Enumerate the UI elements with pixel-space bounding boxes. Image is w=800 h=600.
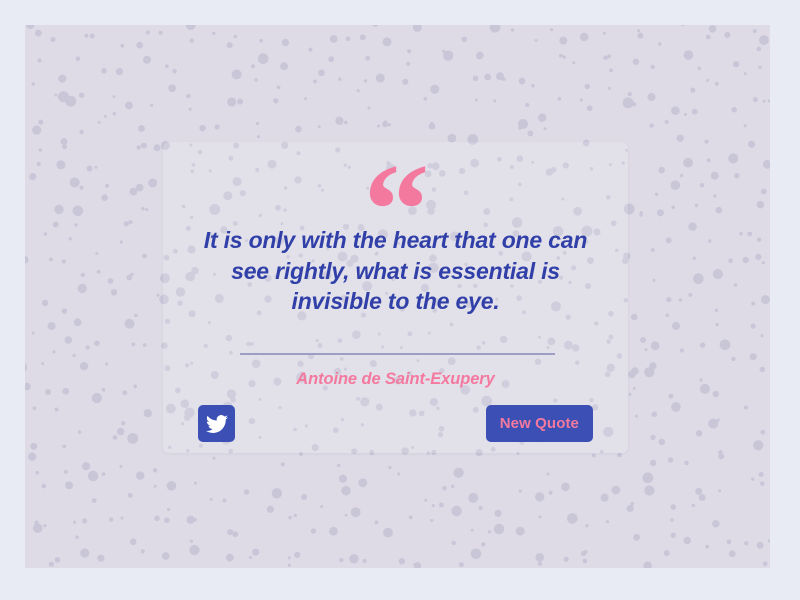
quote-card: “ It is only with the heart that one can…	[163, 142, 628, 453]
quote-author: Antoine de Saint-Exupery	[163, 370, 628, 389]
twitter-share-button[interactable]	[198, 405, 235, 442]
app-frame: “ It is only with the heart that one can…	[0, 0, 800, 600]
new-quote-button-label: New Quote	[500, 415, 579, 432]
card-actions: New Quote	[163, 405, 628, 445]
quote-text: It is only with the heart that one can s…	[191, 225, 600, 317]
divider	[240, 353, 555, 355]
new-quote-button[interactable]: New Quote	[486, 405, 593, 442]
twitter-bird-icon	[206, 413, 228, 435]
